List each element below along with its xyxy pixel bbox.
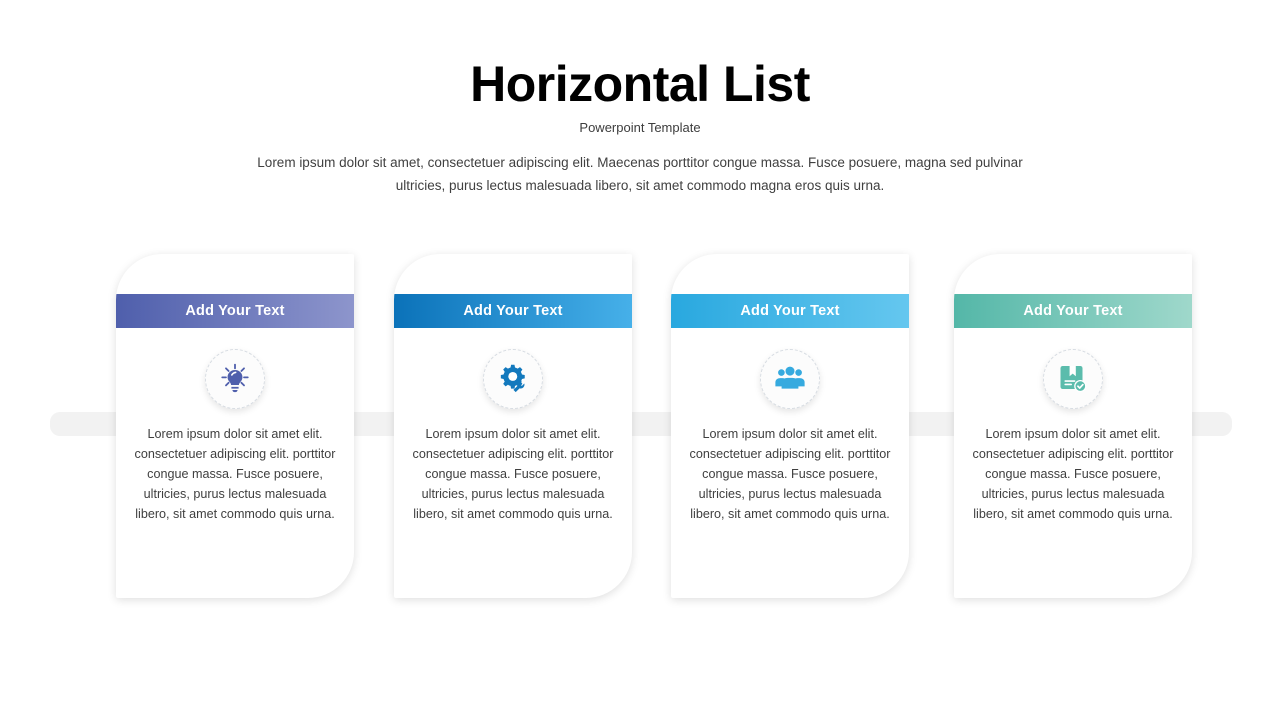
card-title: Add Your Text bbox=[463, 303, 562, 319]
card-description: Lorem ipsum dolor sit amet elit. consect… bbox=[686, 424, 894, 524]
list-item[interactable]: Add Your Text bbox=[116, 254, 354, 598]
card-header-bar: Add Your Text bbox=[954, 294, 1192, 328]
card-description: Lorem ipsum dolor sit amet elit. consect… bbox=[131, 424, 339, 524]
slide-canvas: Horizontal List Powerpoint Template Lore… bbox=[0, 0, 1280, 720]
slide-header: Horizontal List Powerpoint Template Lore… bbox=[0, 54, 1280, 197]
lightbulb-icon bbox=[205, 349, 265, 409]
list-item[interactable]: Add Your Text Lorem ipsum dolor sit amet… bbox=[671, 254, 909, 598]
verified-document-icon bbox=[1043, 349, 1103, 409]
horizontal-list: Add Your Text bbox=[0, 254, 1280, 604]
page-title: Horizontal List bbox=[0, 54, 1280, 114]
card-header-bar: Add Your Text bbox=[394, 294, 632, 328]
list-item[interactable]: Add Your Text Lorem ipsum dolor sit amet… bbox=[954, 254, 1192, 598]
page-subtitle: Powerpoint Template bbox=[0, 119, 1280, 137]
card-title: Add Your Text bbox=[1023, 303, 1122, 319]
card-description: Lorem ipsum dolor sit amet elit. consect… bbox=[409, 424, 617, 524]
card-title: Add Your Text bbox=[740, 303, 839, 319]
gear-wrench-icon bbox=[483, 349, 543, 409]
intro-paragraph: Lorem ipsum dolor sit amet, consectetuer… bbox=[255, 151, 1025, 197]
list-item[interactable]: Add Your Text Lorem ipsum dolor sit amet… bbox=[394, 254, 632, 598]
card-description: Lorem ipsum dolor sit amet elit. consect… bbox=[969, 424, 1177, 524]
people-group-icon bbox=[760, 349, 820, 409]
card-title: Add Your Text bbox=[185, 303, 284, 319]
card-header-bar: Add Your Text bbox=[116, 294, 354, 328]
card-header-bar: Add Your Text bbox=[671, 294, 909, 328]
